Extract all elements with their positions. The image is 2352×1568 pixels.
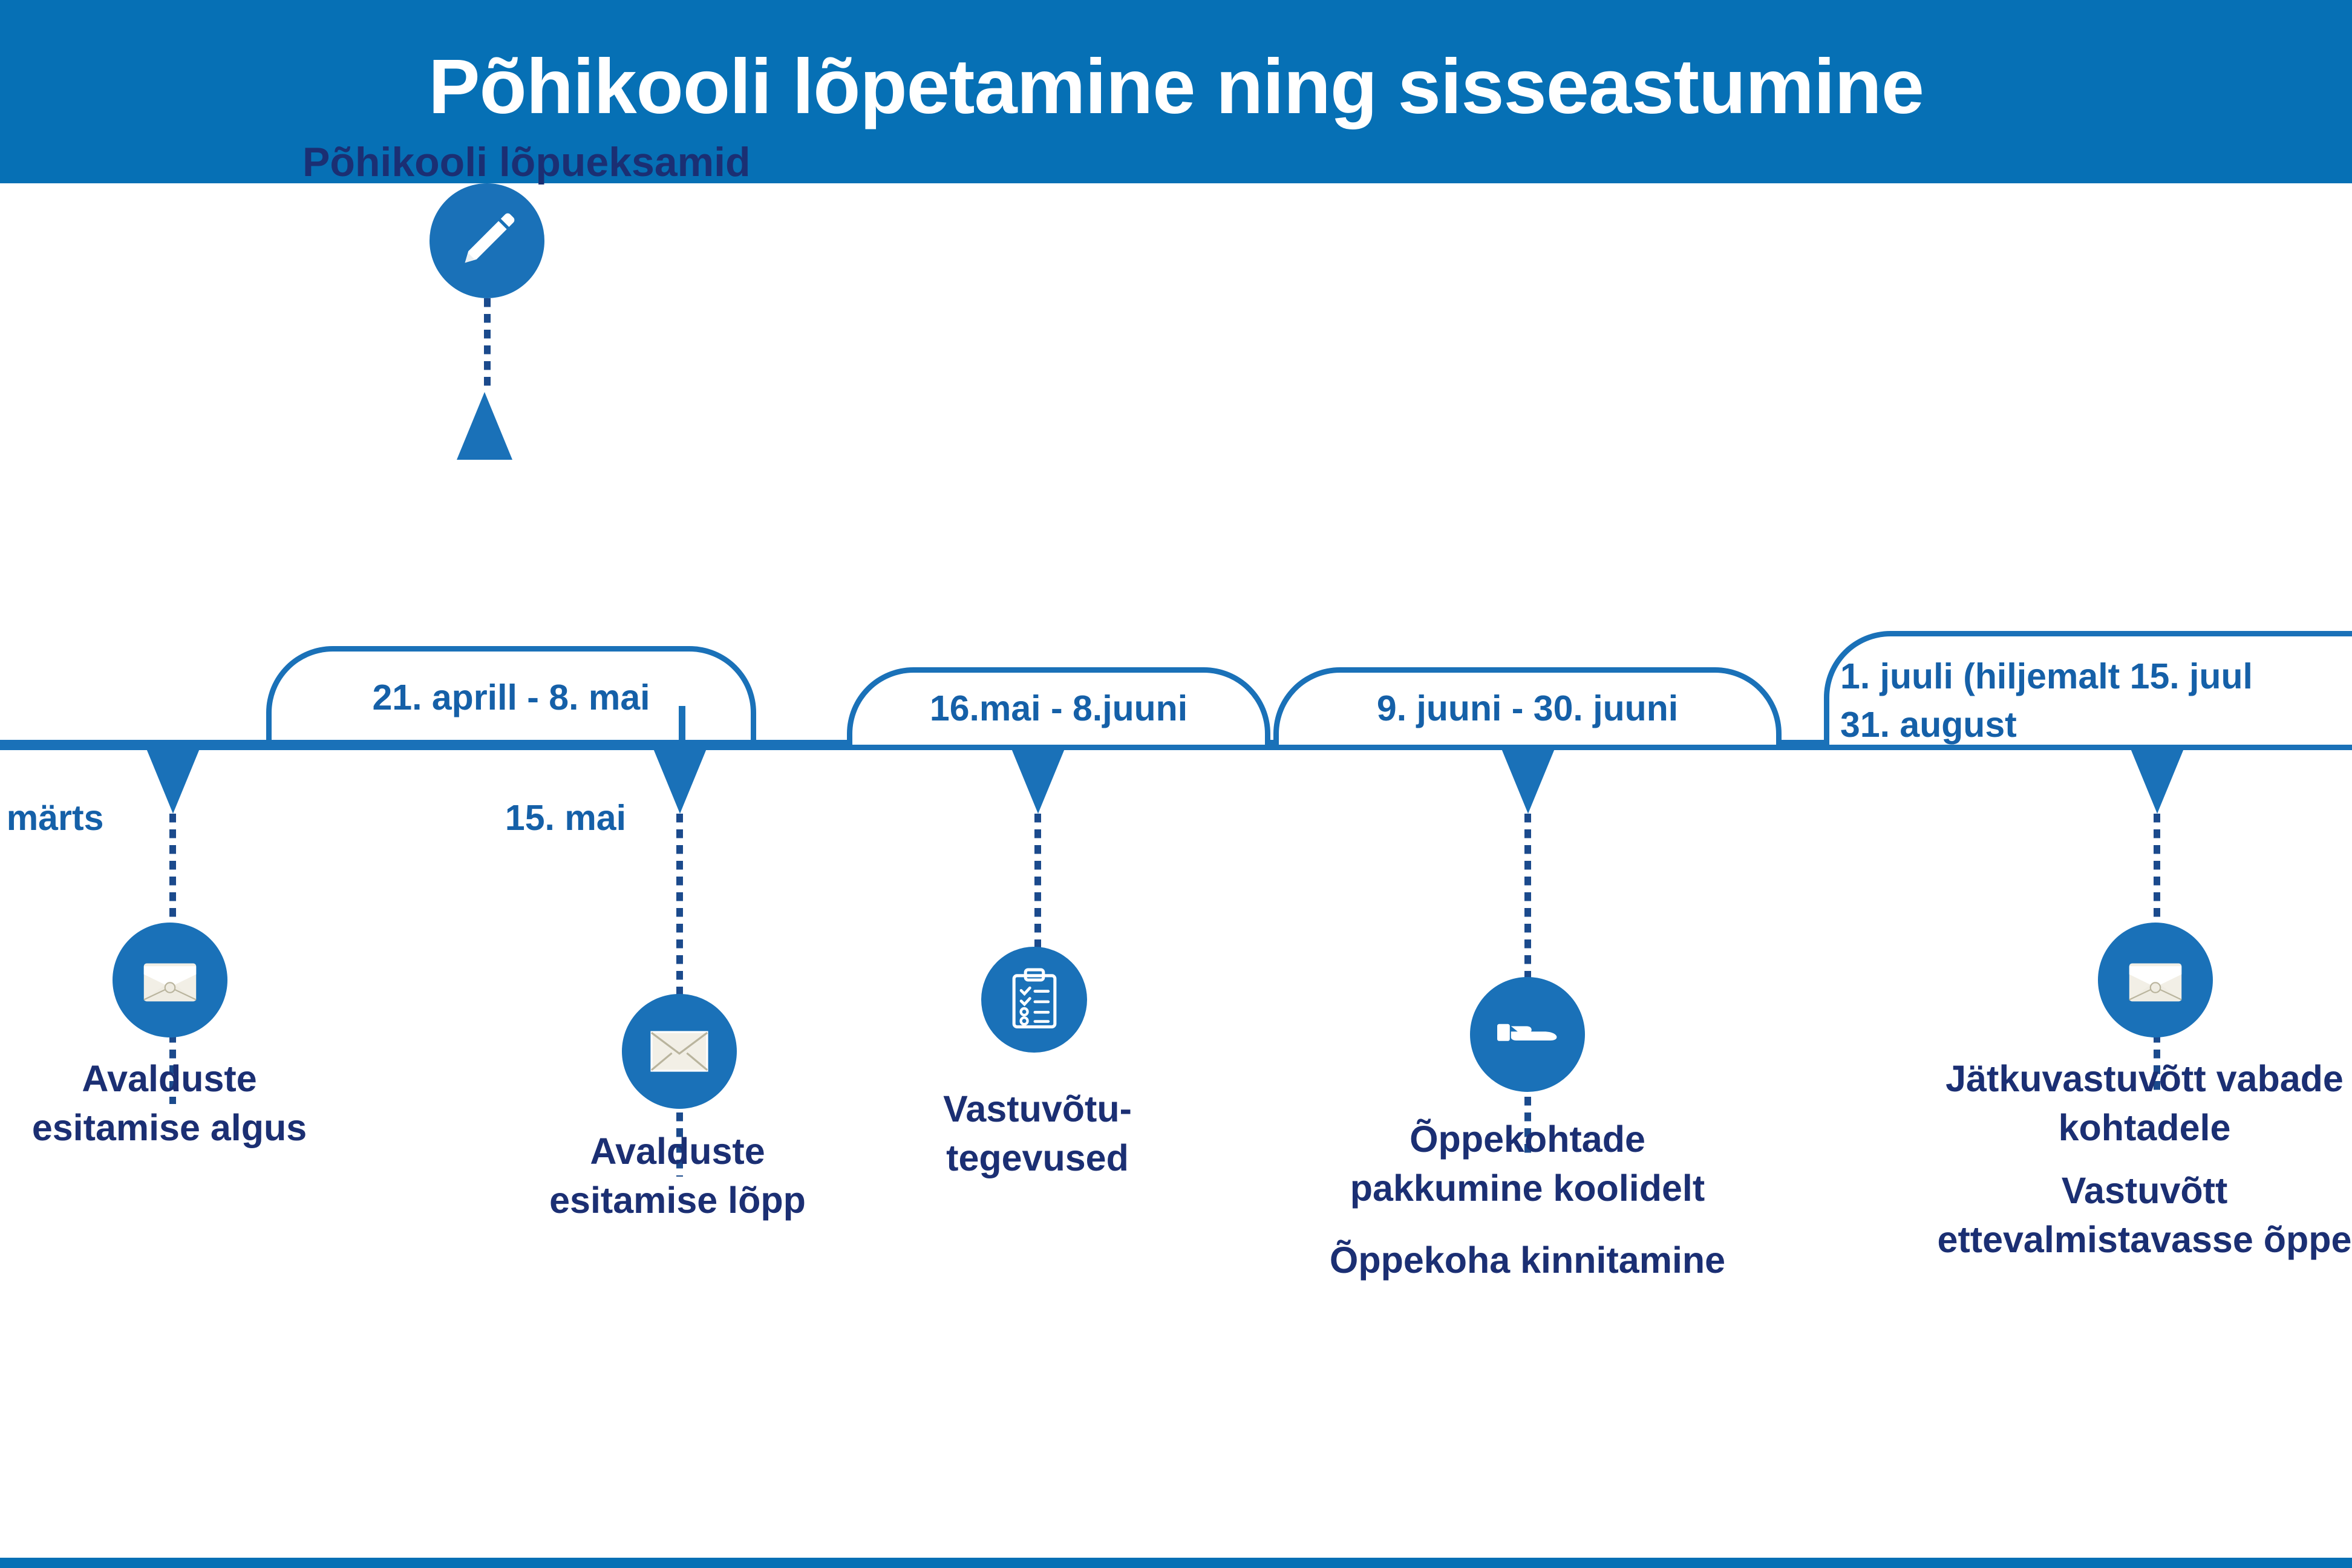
caption-continued-line1: Jätkuvastuvõtt vabade	[1887, 1054, 2352, 1103]
timeline-tick-1	[679, 706, 685, 742]
page-footer	[0, 1558, 2352, 1568]
handshake-icon-circle[interactable]	[1470, 977, 1585, 1092]
connector-dots-exams	[484, 298, 491, 392]
pointer-offer	[1500, 746, 1556, 814]
caption-continued-extra: Vastuvõtt ettevalmistavasse õppe	[1887, 1166, 2352, 1264]
caption-offer-line1: Õppekohtade	[1310, 1115, 1745, 1164]
period-bubble-offer[interactable]: 9. juuni - 30. juuni	[1273, 667, 1782, 745]
pointer-up-exams	[457, 392, 512, 460]
caption-continued-line2: kohtadele	[1887, 1103, 2352, 1152]
caption-admission: Vastuvõtu- tegevused	[820, 1085, 1255, 1183]
date-label-may15: 15. mai	[505, 797, 626, 838]
pointer-continued	[2129, 746, 2185, 814]
caption-offer: Õppekohtade pakkumine koolidelt	[1310, 1115, 1745, 1213]
page-title: Põhikooli lõpetamine ning sisseastumine	[428, 48, 1924, 126]
period-bubble-exams-text: 21. aprill - 8. mai	[372, 677, 650, 719]
envelope-open-icon-circle-continued[interactable]	[2098, 923, 2213, 1037]
period-bubble-admission[interactable]: 16.mai - 8.juuni	[847, 667, 1270, 745]
period-bubble-offer-text: 9. juuni - 30. juuni	[1377, 688, 1678, 730]
caption-offer-extra: Õppekoha kinnitamine	[1310, 1236, 1745, 1285]
pointer-applications-start	[145, 746, 201, 814]
clipboard-checklist-icon-circle[interactable]	[981, 947, 1087, 1053]
pencil-icon	[453, 207, 521, 275]
envelope-closed-icon-circle[interactable]	[622, 994, 737, 1109]
clipboard-checklist-icon	[1006, 967, 1063, 1033]
connector-dots-admission	[1034, 814, 1041, 959]
caption-continued: Jätkuvastuvõtt vabade kohtadele	[1887, 1054, 2352, 1152]
period-bubble-july[interactable]: 1. juuli (hiljemalt 15. juul 31. august	[1824, 631, 2352, 745]
pointer-applications-end	[652, 746, 708, 814]
caption-offer-line2: pakkumine koolidelt	[1310, 1164, 1745, 1213]
caption-admission-line1: Vastuvõtu-	[820, 1085, 1255, 1134]
envelope-closed-icon	[645, 1026, 713, 1077]
exam-event-label: Põhikooli lõpueksamid	[302, 138, 751, 188]
envelope-open-icon-circle-start[interactable]	[113, 923, 227, 1037]
envelope-open-icon	[137, 951, 203, 1009]
caption-applications-start-line2: esitamise algus	[0, 1103, 387, 1152]
period-bubble-july-line2: 31. august	[1840, 704, 2017, 746]
caption-applications-end-line2: esitamise lõpp	[460, 1176, 895, 1225]
caption-continued-extra-line2: ettevalmistavasse õppe	[1887, 1215, 2352, 1264]
caption-offer-extra-line1: Õppekoha kinnitamine	[1310, 1236, 1745, 1285]
timeline-canvas: Põhikooli lõpueksamid 21. aprill - 8. ma…	[0, 183, 2352, 1558]
caption-applications-start: Avalduste esitamise algus	[0, 1054, 387, 1152]
caption-applications-start-line1: Avalduste	[0, 1054, 387, 1103]
pointer-admission	[1010, 746, 1066, 814]
handshake-icon	[1494, 1011, 1561, 1057]
caption-continued-extra-line1: Vastuvõtt	[1887, 1166, 2352, 1215]
period-bubble-july-line1: 1. juuli (hiljemalt 15. juul	[1840, 656, 2253, 698]
period-bubble-admission-text: 16.mai - 8.juuni	[930, 688, 1187, 730]
date-label-march: . märts	[0, 797, 103, 838]
pencil-icon-circle[interactable]	[430, 183, 544, 298]
envelope-open-icon	[2122, 951, 2189, 1009]
caption-admission-line2: tegevused	[820, 1134, 1255, 1183]
